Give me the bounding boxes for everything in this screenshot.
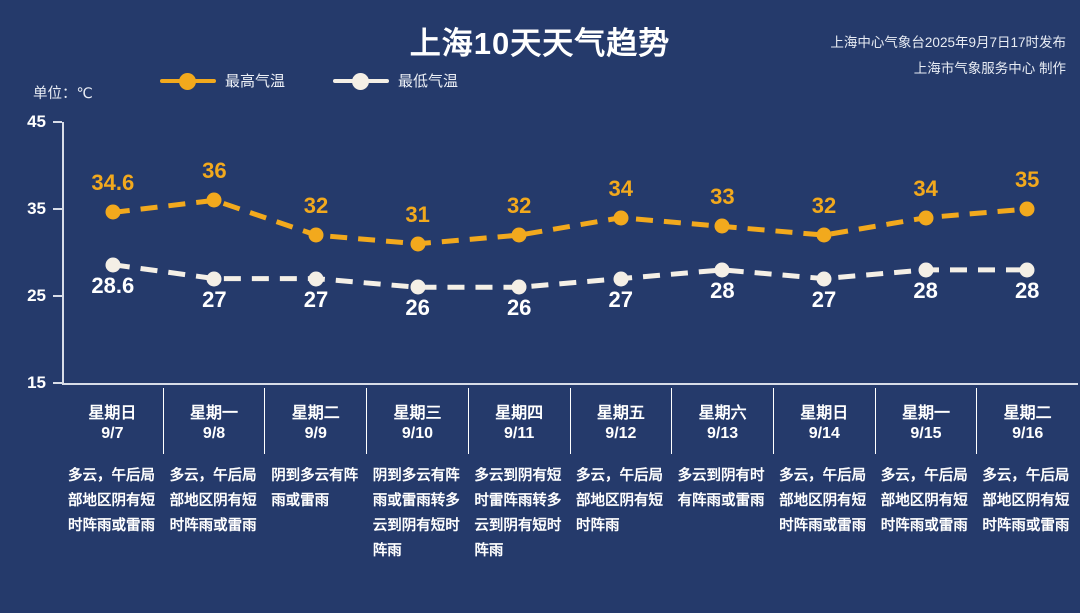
y-axis-tick-mark — [53, 208, 62, 210]
high-temp-point — [918, 210, 933, 225]
weather-description: 多云，午后局部地区阴有短时阵雨或雷雨 — [164, 460, 266, 610]
weather-description: 多云，午后局部地区阴有短时阵雨或雷雨 — [875, 460, 977, 610]
low-temp-line — [113, 265, 1027, 288]
high-temp-point — [613, 210, 628, 225]
low-temp-value-label: 28 — [710, 278, 734, 304]
date-label: 9/14 — [809, 425, 840, 443]
date-label: 9/7 — [101, 425, 123, 443]
weekday-label: 星期六 — [699, 399, 747, 423]
high-temp-value-label: 33 — [710, 184, 734, 210]
y-axis-tick-label: 15 — [12, 373, 46, 393]
weekday-label: 星期三 — [393, 399, 441, 423]
weekday-label: 星期一 — [902, 399, 950, 423]
low-temp-point — [715, 262, 730, 277]
weather-description: 阴到多云有阵雨或雷雨转多云到阴有短时阵雨 — [367, 460, 469, 610]
low-temp-value-label: 27 — [304, 287, 328, 313]
high-temp-point — [105, 205, 120, 220]
high-temp-value-label: 35 — [1015, 167, 1039, 193]
y-axis-tick-mark — [53, 382, 62, 384]
low-temp-point — [918, 262, 933, 277]
date-label: 9/12 — [605, 425, 636, 443]
high-temp-point — [512, 228, 527, 243]
low-temp-value-label: 28 — [913, 278, 937, 304]
high-temp-point — [1020, 202, 1035, 217]
date-label: 9/13 — [707, 425, 738, 443]
weekday-label: 星期日 — [800, 399, 848, 423]
date-label: 9/10 — [402, 425, 433, 443]
y-axis-tick-mark — [53, 295, 62, 297]
high-temp-value-label: 32 — [507, 193, 531, 219]
date-label: 9/16 — [1012, 425, 1043, 443]
low-temp-point — [1020, 262, 1035, 277]
weekday-label: 星期日 — [88, 399, 136, 423]
weekday-label: 星期二 — [292, 399, 340, 423]
date-label: 9/15 — [910, 425, 941, 443]
date-cell[interactable]: 星期四9/11 — [469, 388, 571, 454]
low-temp-point — [512, 280, 527, 295]
low-temp-point — [410, 280, 425, 295]
weekday-label: 星期五 — [597, 399, 645, 423]
weather-description: 多云到阴有短时雷阵雨转多云到阴有短时阵雨 — [468, 460, 570, 610]
x-axis-line — [62, 383, 1078, 385]
weekday-label: 星期二 — [1004, 399, 1052, 423]
high-temp-point — [309, 228, 324, 243]
low-temp-point — [613, 271, 628, 286]
high-temp-value-label: 32 — [812, 193, 836, 219]
date-cell[interactable]: 星期二9/9 — [265, 388, 367, 454]
y-axis-tick-mark — [53, 121, 62, 123]
date-cell[interactable]: 星期一9/15 — [876, 388, 978, 454]
weekday-label: 星期一 — [190, 399, 238, 423]
low-temp-value-label: 28.6 — [91, 273, 134, 299]
high-temp-point — [207, 193, 222, 208]
weather-description: 阴到多云有阵雨或雷雨 — [265, 460, 367, 610]
weather-description: 多云，午后局部地区阴有短时阵雨或雷雨 — [976, 460, 1078, 610]
date-cell[interactable]: 星期六9/13 — [672, 388, 774, 454]
date-label: 9/9 — [305, 425, 327, 443]
low-temp-point — [309, 271, 324, 286]
high-temp-value-label: 32 — [304, 193, 328, 219]
weather-description: 多云到阴有时有阵雨或雷雨 — [672, 460, 774, 610]
low-temp-point — [105, 257, 120, 272]
weekday-label: 星期四 — [495, 399, 543, 423]
high-temp-value-label: 34 — [609, 176, 633, 202]
high-temp-point — [817, 228, 832, 243]
date-cell[interactable]: 星期五9/12 — [571, 388, 673, 454]
low-temp-value-label: 27 — [812, 287, 836, 313]
low-temp-value-label: 27 — [609, 287, 633, 313]
y-axis-tick-label: 45 — [12, 112, 46, 132]
description-row: 多云，午后局部地区阴有短时阵雨或雷雨多云，午后局部地区阴有短时阵雨或雷雨阴到多云… — [62, 460, 1078, 610]
low-temp-point — [207, 271, 222, 286]
weather-description: 多云，午后局部地区阴有短时阵雨或雷雨 — [773, 460, 875, 610]
date-label: 9/8 — [203, 425, 225, 443]
low-temp-value-label: 28 — [1015, 278, 1039, 304]
weather-trend-chart: 上海10天天气趋势 上海中心气象台2025年9月7日17时发布 上海市气象服务中… — [0, 0, 1080, 613]
y-axis-tick-label: 35 — [12, 199, 46, 219]
high-temp-value-label: 36 — [202, 158, 226, 184]
date-cell[interactable]: 星期一9/8 — [164, 388, 266, 454]
high-temp-line — [113, 200, 1027, 244]
low-temp-value-label: 26 — [405, 295, 429, 321]
date-cell[interactable]: 星期三9/10 — [367, 388, 469, 454]
date-header-row: 星期日9/7星期一9/8星期二9/9星期三9/10星期四9/11星期五9/12星… — [62, 388, 1078, 454]
weather-description: 多云，午后局部地区阴有短时阵雨 — [570, 460, 672, 610]
high-temp-value-label: 34.6 — [91, 170, 134, 196]
date-cell[interactable]: 星期日9/7 — [62, 388, 164, 454]
high-temp-point — [410, 236, 425, 251]
y-axis-line — [62, 122, 64, 383]
high-temp-point — [715, 219, 730, 234]
weather-description: 多云，午后局部地区阴有短时阵雨或雷雨 — [62, 460, 164, 610]
high-temp-value-label: 31 — [405, 202, 429, 228]
date-cell[interactable]: 星期二9/16 — [977, 388, 1078, 454]
y-axis-tick-label: 25 — [12, 286, 46, 306]
date-cell[interactable]: 星期日9/14 — [774, 388, 876, 454]
low-temp-point — [817, 271, 832, 286]
low-temp-value-label: 27 — [202, 287, 226, 313]
date-label: 9/11 — [504, 425, 534, 443]
low-temp-value-label: 26 — [507, 295, 531, 321]
high-temp-value-label: 34 — [913, 176, 937, 202]
